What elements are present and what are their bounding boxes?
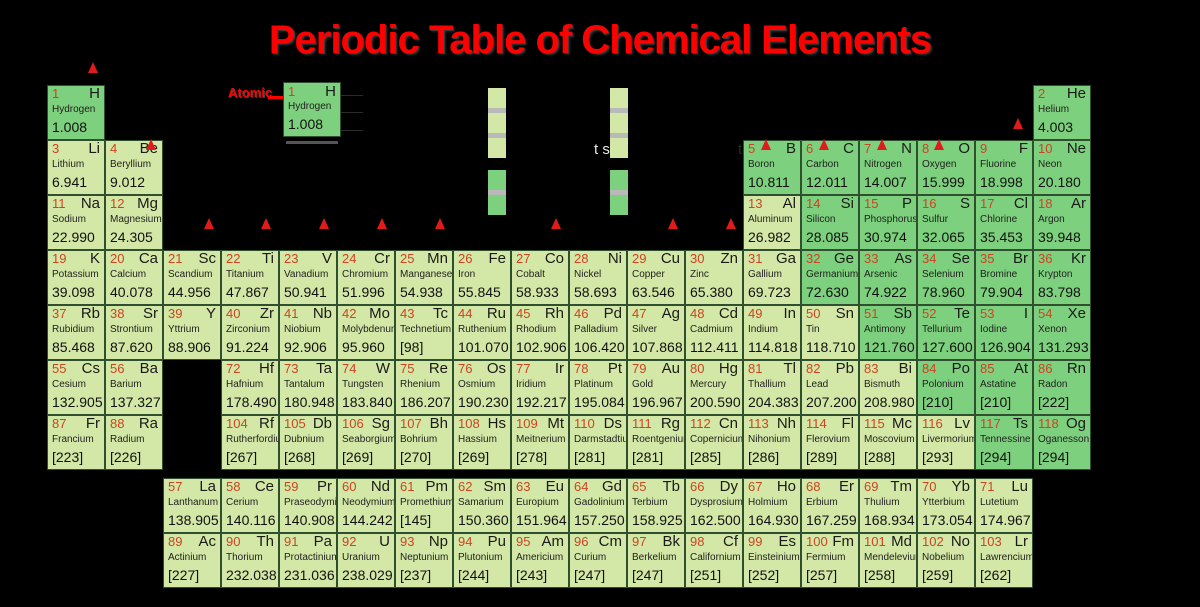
element-name: Titanium [226, 269, 264, 280]
element-name: Potassium [52, 269, 99, 280]
element-cell-og[interactable]: 118OgOganesson[294] [1033, 415, 1091, 470]
element-symbol: Mn [427, 251, 448, 267]
element-cell-si[interactable]: 14SiSilicon28.085 [801, 195, 859, 250]
element-cell-mc[interactable]: 115McMoscovium[288] [859, 415, 917, 470]
atomic-mass: [269] [342, 449, 373, 465]
atomic-number: 21 [168, 252, 182, 266]
element-symbol: W [376, 361, 390, 377]
atomic-mass: 35.453 [980, 229, 1023, 245]
element-cell-pd[interactable]: 46PdPalladium106.420 [569, 305, 627, 360]
atomic-mass: 126.904 [980, 339, 1031, 355]
element-cell-sr[interactable]: 38SrStrontium87.620 [105, 305, 163, 360]
element-cell-at[interactable]: 85AtAstatine[210] [975, 360, 1033, 415]
element-cell-au[interactable]: 79AuGold196.967 [627, 360, 685, 415]
element-symbol: Ac [198, 534, 216, 550]
element-cell-sn[interactable]: 50SnTin118.710 [801, 305, 859, 360]
element-cell-zn[interactable]: 30ZnZinc65.380 [685, 250, 743, 305]
legend-label-0: t s [594, 141, 610, 158]
atomic-mass: 72.630 [806, 284, 849, 300]
element-name: Dubnium [284, 434, 324, 445]
element-cell-ba[interactable]: 56BaBarium137.327 [105, 360, 163, 415]
atomic-number: 45 [516, 307, 530, 321]
group-marker-arrow-icon [551, 218, 561, 229]
element-cell-h[interactable]: 1HHydrogen1.008 [47, 85, 105, 140]
element-name: Seaborgium [342, 434, 395, 445]
element-cell-co[interactable]: 27CoCobalt58.933 [511, 250, 569, 305]
element-cell-rb[interactable]: 37RbRubidium85.468 [47, 305, 105, 360]
atomic-mass: [222] [1038, 394, 1069, 410]
element-symbol: Fm [832, 534, 854, 550]
atomic-number: 103 [980, 535, 1002, 549]
element-name: Neodymium [342, 497, 395, 508]
element-name: Silicon [806, 214, 835, 225]
element-name: Lead [806, 379, 828, 390]
element-cell-ts[interactable]: 117TsTennessine[294] [975, 415, 1033, 470]
atomic-number: 27 [516, 252, 530, 266]
atomic-number: 52 [922, 307, 936, 321]
element-cell-ra[interactable]: 88RaRadium[226] [105, 415, 163, 470]
legend-atomic-label: Atomic [228, 85, 272, 100]
legend-sample-mass: 1.008 [288, 116, 323, 132]
element-cell-mn[interactable]: 25MnManganese54.938 [395, 250, 453, 305]
element-symbol: At [1014, 361, 1028, 377]
element-symbol: Tb [662, 479, 680, 495]
element-cell-no[interactable]: 102NoNobelium[259] [917, 533, 975, 588]
element-symbol: Mc [892, 416, 912, 432]
element-cell-lr[interactable]: 103LrLawrencium[262] [975, 533, 1033, 588]
element-symbol: Sb [894, 306, 912, 322]
element-symbol: Ti [262, 251, 274, 267]
element-cell-f[interactable]: 9FFluorine18.998 [975, 140, 1033, 195]
atomic-mass: [294] [1038, 449, 1069, 465]
element-cell-hs[interactable]: 108HsHassium[269] [453, 415, 511, 470]
atomic-mass: 232.038 [226, 567, 277, 583]
element-symbol: Pd [604, 306, 622, 322]
element-cell-am[interactable]: 95AmAmericium[243] [511, 533, 569, 588]
element-cell-ti[interactable]: 22TiTitanium47.867 [221, 250, 279, 305]
element-cell-na[interactable]: 11NaSodium22.990 [47, 195, 105, 250]
element-name: Germanium [806, 269, 858, 280]
atomic-number: 101 [864, 535, 886, 549]
element-symbol: Tc [433, 306, 448, 322]
atomic-mass: 121.760 [864, 339, 915, 355]
element-cell-mg[interactable]: 12MgMagnesium24.305 [105, 195, 163, 250]
element-cell-b[interactable]: 5BBoron10.811 [743, 140, 801, 195]
atomic-number: 8 [922, 142, 929, 156]
element-symbol: Hs [488, 416, 506, 432]
element-name: Technetium [400, 324, 451, 335]
element-cell-pb[interactable]: 82PbLead207.200 [801, 360, 859, 415]
atomic-number: 96 [574, 535, 588, 549]
element-cell-tc[interactable]: 43TcTechnetium[98] [395, 305, 453, 360]
element-cell-c[interactable]: 6CCarbon12.011 [801, 140, 859, 195]
atomic-mass: [267] [226, 449, 257, 465]
element-cell-lu[interactable]: 71LuLutetium174.967 [975, 478, 1033, 533]
atomic-mass: [244] [458, 567, 489, 583]
atomic-number: 78 [574, 362, 588, 376]
element-name: Oxygen [922, 159, 956, 170]
atomic-number: 22 [226, 252, 240, 266]
element-cell-dy[interactable]: 66DyDysprosium162.500 [685, 478, 743, 533]
element-symbol: Ar [1071, 196, 1086, 212]
element-name: Bohrium [400, 434, 437, 445]
legend-swatch-2e [610, 195, 628, 215]
element-name: Erbium [806, 497, 838, 508]
legend-leader-1 [341, 95, 363, 96]
atomic-mass: 208.980 [864, 394, 915, 410]
element-cell-xe[interactable]: 54XeXenon131.293 [1033, 305, 1091, 360]
element-name: Thorium [226, 552, 263, 563]
element-cell-ce[interactable]: 58CeCerium140.116 [221, 478, 279, 533]
atomic-mass: [268] [284, 449, 315, 465]
element-cell-bk[interactable]: 97BkBerkelium[247] [627, 533, 685, 588]
element-symbol: Yb [952, 479, 970, 495]
atomic-mass: 1.008 [52, 119, 87, 135]
element-cell-ho[interactable]: 67HoHolmium164.930 [743, 478, 801, 533]
element-cell-se[interactable]: 34SeSelenium78.960 [917, 250, 975, 305]
atomic-mass: 178.490 [226, 394, 277, 410]
element-cell-fr[interactable]: 87FrFrancium[223] [47, 415, 105, 470]
atomic-number: 28 [574, 252, 588, 266]
atomic-mass: 204.383 [748, 394, 799, 410]
element-name: Bromine [980, 269, 1017, 280]
element-cell-hf[interactable]: 72HfHafnium178.490 [221, 360, 279, 415]
element-name: Magnesium [110, 214, 162, 225]
element-symbol: Ir [555, 361, 564, 377]
element-cell-rh[interactable]: 45RhRhodium102.906 [511, 305, 569, 360]
element-cell-sb[interactable]: 51SbAntimony121.760 [859, 305, 917, 360]
atomic-mass: 107.868 [632, 339, 683, 355]
element-symbol: Zr [260, 306, 274, 322]
atomic-mass: 140.908 [284, 512, 335, 528]
element-name: Tennessine [980, 434, 1031, 445]
element-name: Nihonium [748, 434, 790, 445]
element-symbol: He [1067, 86, 1086, 102]
atomic-mass: [210] [980, 394, 1011, 410]
element-name: Scandium [168, 269, 212, 280]
element-symbol: Xe [1068, 306, 1086, 322]
atomic-mass: 231.036 [284, 567, 335, 583]
atomic-mass: 151.964 [516, 512, 567, 528]
legend-swatch-1b [488, 113, 506, 133]
element-symbol: I [1024, 306, 1028, 322]
element-cell-he[interactable]: 2HeHelium4.003 [1033, 85, 1091, 140]
element-symbol: Al [783, 196, 796, 212]
atomic-number: 56 [110, 362, 124, 376]
atomic-mass: 140.116 [226, 512, 276, 528]
atomic-number: 61 [400, 480, 414, 494]
element-name: Francium [52, 434, 94, 445]
atomic-mass: 162.500 [690, 512, 741, 528]
element-symbol: Zn [720, 251, 738, 267]
element-symbol: Tm [890, 479, 912, 495]
element-name: Yttrium [168, 324, 200, 335]
legend-swatch-2b [610, 113, 628, 133]
atomic-mass: 196.967 [632, 394, 683, 410]
element-cell-cr[interactable]: 24CrChromium51.996 [337, 250, 395, 305]
element-name: Thallium [748, 379, 786, 390]
element-cell-ta[interactable]: 73TaTantalum180.948 [279, 360, 337, 415]
atomic-mass: 102.906 [516, 339, 567, 355]
atomic-number: 68 [806, 480, 820, 494]
atomic-number: 88 [110, 417, 124, 431]
element-cell-w[interactable]: 74WTungsten183.840 [337, 360, 395, 415]
element-cell-cu[interactable]: 29CuCopper63.546 [627, 250, 685, 305]
atomic-number: 14 [806, 197, 820, 211]
element-cell-n[interactable]: 7NNitrogen14.007 [859, 140, 917, 195]
element-symbol: La [199, 479, 216, 495]
element-cell-v[interactable]: 23VVanadium50.941 [279, 250, 337, 305]
atomic-mass: 164.930 [748, 512, 799, 528]
element-cell-zr[interactable]: 40ZrZirconium91.224 [221, 305, 279, 360]
element-cell-pa[interactable]: 91PaProtactinium231.036 [279, 533, 337, 588]
group-marker-arrow-icon [88, 62, 98, 73]
element-cell-al[interactable]: 13AlAluminum26.982 [743, 195, 801, 250]
atomic-number: 42 [342, 307, 356, 321]
element-cell-ge[interactable]: 32GeGermanium72.630 [801, 250, 859, 305]
legend-leader-3 [341, 130, 363, 131]
element-name: Vanadium [284, 269, 328, 280]
element-symbol: Lu [1011, 479, 1028, 495]
atomic-number: 100 [806, 535, 828, 549]
element-cell-th[interactable]: 90ThThorium232.038 [221, 533, 279, 588]
element-name: Moscovium [864, 434, 915, 445]
element-cell-cs[interactable]: 55CsCesium132.905 [47, 360, 105, 415]
element-cell-fl[interactable]: 114FlFlerovium[289] [801, 415, 859, 470]
element-cell-nh[interactable]: 113NhNihonium[286] [743, 415, 801, 470]
element-name: Gold [632, 379, 653, 390]
element-symbol: Re [429, 361, 448, 377]
atomic-mass: 200.590 [690, 394, 741, 410]
element-symbol: Ca [139, 251, 158, 267]
element-cell-sg[interactable]: 106SgSeaborgium[269] [337, 415, 395, 470]
element-name: Silver [632, 324, 657, 335]
element-cell-nd[interactable]: 60NdNeodymium144.242 [337, 478, 395, 533]
element-cell-tb[interactable]: 65TbTerbium158.925 [627, 478, 685, 533]
atomic-mass: 47.867 [226, 284, 269, 300]
atomic-number: 71 [980, 480, 994, 494]
element-symbol: Lv [954, 416, 970, 432]
element-cell-po[interactable]: 84PoPolonium[210] [917, 360, 975, 415]
element-name: Cobalt [516, 269, 545, 280]
element-symbol: Li [88, 141, 100, 157]
element-symbol: Gd [602, 479, 622, 495]
element-cell-y[interactable]: 39YYttrium88.906 [163, 305, 221, 360]
atomic-number: 83 [864, 362, 878, 376]
element-cell-s[interactable]: 16SSulfur32.065 [917, 195, 975, 250]
element-cell-ag[interactable]: 47AgSilver107.868 [627, 305, 685, 360]
element-cell-p[interactable]: 15PPhosphorus30.974 [859, 195, 917, 250]
element-name: Nobelium [922, 552, 964, 563]
atomic-mass: 79.904 [980, 284, 1023, 300]
element-cell-li[interactable]: 3LiLithium6.941 [47, 140, 105, 195]
element-cell-es[interactable]: 99EsEinsteinium[252] [743, 533, 801, 588]
element-symbol: Mo [369, 306, 390, 322]
atomic-number: 81 [748, 362, 762, 376]
element-cell-tm[interactable]: 69TmThulium168.934 [859, 478, 917, 533]
element-name: Iron [458, 269, 475, 280]
atomic-mass: 138.905 [168, 512, 219, 528]
element-cell-pr[interactable]: 59PrPraseodymium140.908 [279, 478, 337, 533]
atomic-number: 5 [748, 142, 755, 156]
group-marker-arrow-icon [204, 218, 214, 229]
element-symbol: Nh [777, 416, 796, 432]
atomic-mass: [259] [922, 567, 953, 583]
atomic-mass: [262] [980, 567, 1011, 583]
element-cell-bh[interactable]: 107BhBohrium[270] [395, 415, 453, 470]
element-cell-fe[interactable]: 26FeIron55.845 [453, 250, 511, 305]
element-cell-rg[interactable]: 111RgRoentgenium[281] [627, 415, 685, 470]
element-cell-re[interactable]: 75ReRhenium186.207 [395, 360, 453, 415]
atomic-number: 50 [806, 307, 820, 321]
element-symbol: No [951, 534, 970, 550]
element-cell-fm[interactable]: 100FmFermium[257] [801, 533, 859, 588]
atomic-mass: 190.230 [458, 394, 509, 410]
element-cell-rf[interactable]: 104RfRutherfordium[267] [221, 415, 279, 470]
element-cell-md[interactable]: 101MdMendelevium[258] [859, 533, 917, 588]
element-cell-ga[interactable]: 31GaGallium69.723 [743, 250, 801, 305]
element-cell-pt[interactable]: 78PtPlatinum195.084 [569, 360, 627, 415]
element-cell-sc[interactable]: 21ScScandium44.956 [163, 250, 221, 305]
atomic-mass: 10.811 [748, 174, 790, 190]
element-symbol: Br [1013, 251, 1028, 267]
element-cell-ir[interactable]: 77IrIridium192.217 [511, 360, 569, 415]
element-name: Copper [632, 269, 665, 280]
element-cell-mt[interactable]: 109MtMeitnerium[278] [511, 415, 569, 470]
atomic-number: 9 [980, 142, 987, 156]
atomic-number: 116 [922, 417, 943, 431]
element-cell-rn[interactable]: 86RnRadon[222] [1033, 360, 1091, 415]
element-cell-bi[interactable]: 83BiBismuth208.980 [859, 360, 917, 415]
atomic-mass: 32.065 [922, 229, 965, 245]
legend-leader-2 [341, 112, 363, 113]
element-cell-ac[interactable]: 89AcActinium[227] [163, 533, 221, 588]
element-cell-br[interactable]: 35BrBromine79.904 [975, 250, 1033, 305]
legend-swatch-2c [610, 138, 628, 158]
element-cell-hg[interactable]: 80HgMercury200.590 [685, 360, 743, 415]
atomic-number: 33 [864, 252, 878, 266]
element-name: Aluminum [748, 214, 792, 225]
atomic-number: 86 [1038, 362, 1052, 376]
element-cell-ni[interactable]: 28NiNickel58.693 [569, 250, 627, 305]
element-symbol: Hf [259, 361, 274, 377]
element-cell-ar[interactable]: 18ArArgon39.948 [1033, 195, 1091, 250]
element-symbol: Sr [143, 306, 158, 322]
element-name: Rubidium [52, 324, 94, 335]
atomic-number: 62 [458, 480, 472, 494]
atomic-number: 20 [110, 252, 124, 266]
element-name: Fermium [806, 552, 845, 563]
element-cell-cd[interactable]: 48CdCadmium112.411 [685, 305, 743, 360]
element-cell-u[interactable]: 92UUranium238.029 [337, 533, 395, 588]
atomic-mass: 63.546 [632, 284, 675, 300]
element-symbol: Y [206, 306, 216, 322]
element-symbol: Sc [198, 251, 216, 267]
element-cell-mo[interactable]: 42MoMolybdenum95.960 [337, 305, 395, 360]
atomic-number: 53 [980, 307, 994, 321]
atomic-number: 95 [516, 535, 530, 549]
atomic-number: 40 [226, 307, 240, 321]
element-cell-np[interactable]: 93NpNeptunium[237] [395, 533, 453, 588]
atomic-number: 29 [632, 252, 646, 266]
element-symbol: Rh [545, 306, 564, 322]
atomic-number: 30 [690, 252, 704, 266]
element-symbol: Bi [899, 361, 912, 377]
element-cell-er[interactable]: 68ErErbium167.259 [801, 478, 859, 533]
element-cell-lv[interactable]: 116LvLivermorium[293] [917, 415, 975, 470]
element-cell-o[interactable]: 8OOxygen15.999 [917, 140, 975, 195]
element-cell-nb[interactable]: 41NbNiobium92.906 [279, 305, 337, 360]
element-symbol: Sg [372, 416, 390, 432]
element-cell-ne[interactable]: 10NeNeon20.180 [1033, 140, 1091, 195]
element-cell-cf[interactable]: 98CfCalifornium[251] [685, 533, 743, 588]
element-cell-db[interactable]: 105DbDubnium[268] [279, 415, 337, 470]
atomic-number: 66 [690, 480, 704, 494]
element-symbol: Ga [776, 251, 796, 267]
element-cell-as[interactable]: 33AsArsenic74.922 [859, 250, 917, 305]
element-cell-cn[interactable]: 112CnCopernicium[285] [685, 415, 743, 470]
element-cell-tl[interactable]: 81TlThallium204.383 [743, 360, 801, 415]
element-cell-pm[interactable]: 61PmPromethium[145] [395, 478, 453, 533]
element-name: Sodium [52, 214, 86, 225]
atomic-number: 74 [342, 362, 356, 376]
atomic-number: 93 [400, 535, 414, 549]
element-cell-ru[interactable]: 44RuRuthenium101.070 [453, 305, 511, 360]
element-cell-sm[interactable]: 62SmSamarium150.360 [453, 478, 511, 533]
element-name: Calcium [110, 269, 146, 280]
atomic-mass: 22.990 [52, 229, 95, 245]
element-cell-te[interactable]: 52TeTellurium127.600 [917, 305, 975, 360]
legend-swatch-1a [488, 88, 506, 108]
element-name: Gallium [748, 269, 782, 280]
atomic-number: 91 [284, 535, 298, 549]
element-name: Praseodymium [284, 497, 337, 508]
element-symbol: Cu [661, 251, 680, 267]
element-cell-la[interactable]: 57LaLanthanum138.905 [163, 478, 221, 533]
element-cell-pu[interactable]: 94PuPlutonium[244] [453, 533, 511, 588]
element-cell-ca[interactable]: 20CaCalcium40.078 [105, 250, 163, 305]
element-cell-in[interactable]: 49InIndium114.818 [743, 305, 801, 360]
element-cell-gd[interactable]: 64GdGadolinium157.250 [569, 478, 627, 533]
element-name: Antimony [864, 324, 906, 335]
element-cell-cl[interactable]: 17ClChlorine35.453 [975, 195, 1033, 250]
atomic-mass: [286] [748, 449, 779, 465]
element-cell-kr[interactable]: 36KrKrypton83.798 [1033, 250, 1091, 305]
atomic-number: 34 [922, 252, 936, 266]
element-name: Rutherfordium [226, 434, 279, 445]
atomic-number: 77 [516, 362, 530, 376]
element-symbol: Pt [608, 361, 622, 377]
element-name: Lawrencium [980, 552, 1033, 563]
atomic-mass: 106.420 [574, 339, 625, 355]
atomic-mass: [269] [458, 449, 489, 465]
element-cell-ds[interactable]: 110DsDarmstadtium[281] [569, 415, 627, 470]
atomic-mass: 44.956 [168, 284, 211, 300]
element-name: Carbon [806, 159, 839, 170]
element-symbol: Fe [488, 251, 506, 267]
element-cell-os[interactable]: 76OsOsmium190.230 [453, 360, 511, 415]
element-cell-eu[interactable]: 63EuEuropium151.964 [511, 478, 569, 533]
element-cell-i[interactable]: 53IIodine126.904 [975, 305, 1033, 360]
element-name: Lithium [52, 159, 84, 170]
atomic-number: 38 [110, 307, 124, 321]
element-cell-cm[interactable]: 96CmCurium[247] [569, 533, 627, 588]
element-cell-k[interactable]: 19KPotassium39.098 [47, 250, 105, 305]
atomic-number: 7 [864, 142, 871, 156]
element-cell-yb[interactable]: 70YbYtterbium173.054 [917, 478, 975, 533]
element-name: Mercury [690, 379, 726, 390]
group-marker-arrow-icon [726, 218, 736, 229]
